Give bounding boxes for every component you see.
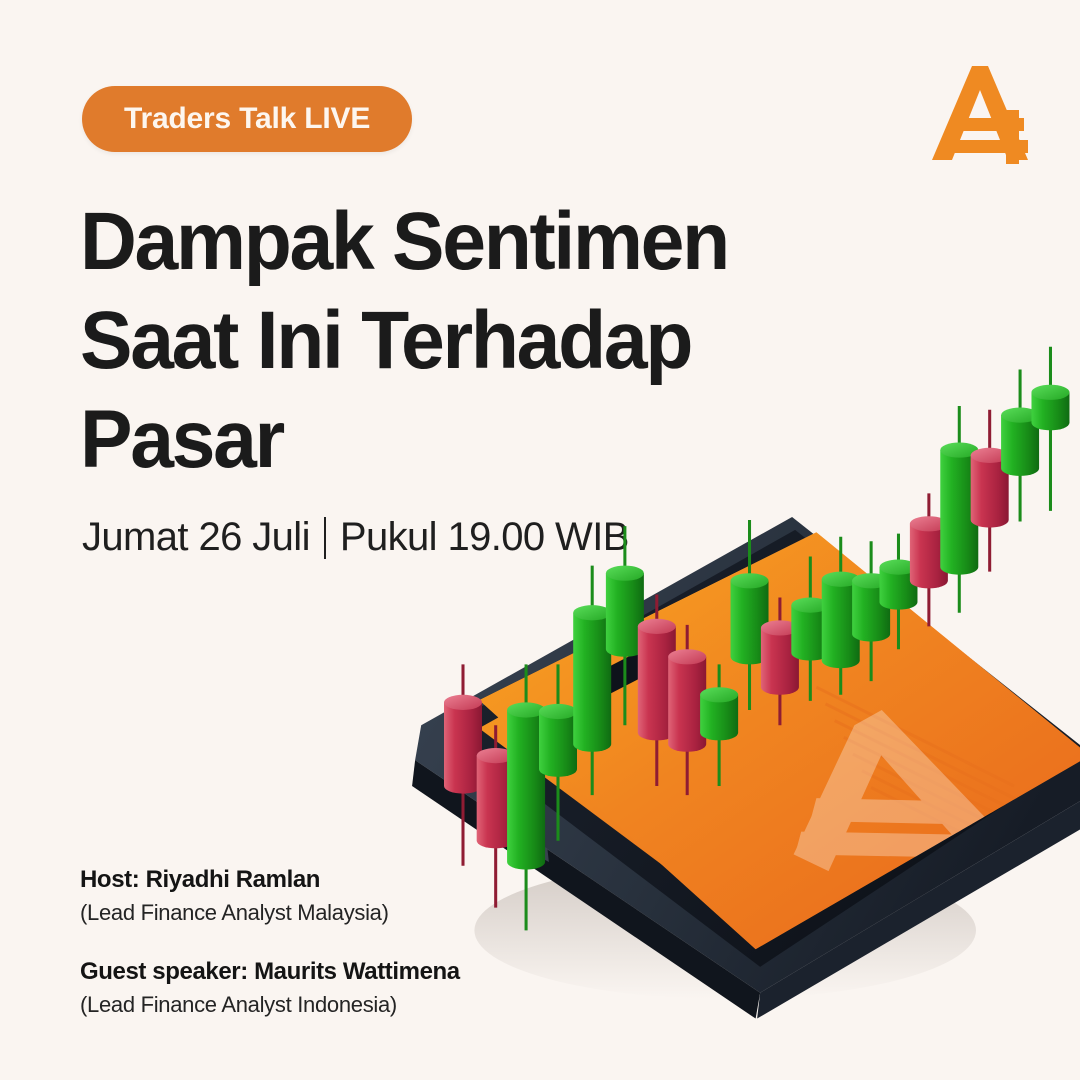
host-name: Host: Riyadhi Ramlan [80,865,550,896]
credits-block: Host: Riyadhi Ramlan (Lead Finance Analy… [80,865,550,1050]
dateline-separator [324,517,326,559]
traders-talk-live-badge[interactable]: Traders Talk LIVE [82,86,412,152]
guest-name: Guest speaker: Maurits Wattimena [80,957,550,988]
host-role: (Lead Finance Analyst Malaysia) [80,899,550,928]
poster-canvas: Traders Talk LIVE Dampak Sentimen Saat I… [0,0,1080,1080]
event-date: Jumat 26 Juli [82,515,310,560]
headline-line-1: Dampak Sentimen [80,192,771,291]
badge-label: Traders Talk LIVE [124,102,370,136]
guest-role: (Lead Finance Analyst Indonesia) [80,991,550,1020]
host-credit: Host: Riyadhi Ramlan (Lead Finance Analy… [80,865,550,927]
amarkets-a-logo-icon [928,60,1032,168]
guest-credit: Guest speaker: Maurits Wattimena (Lead F… [80,957,550,1019]
